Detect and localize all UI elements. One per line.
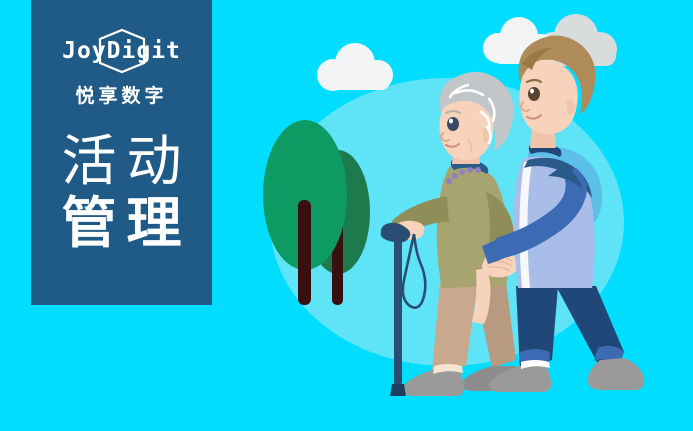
elderly-eye (447, 117, 459, 131)
man-face (519, 60, 577, 134)
logo-wordmark: JoyDigit (56, 28, 188, 74)
poster-canvas: JoyDigit 悦享数字 活动 管理 (0, 0, 693, 431)
elderly-eye-highlight (449, 119, 453, 124)
man-eye (528, 87, 540, 101)
brand-logo: JoyDigit 悦享数字 (56, 28, 188, 108)
logo-mark: JoyDigit (56, 28, 188, 74)
cane-shaft (394, 234, 402, 386)
page-title-line-2: 管理 (51, 192, 191, 254)
page-title-line-1: 活动 (51, 130, 191, 192)
logo-subtitle: 悦享数字 (75, 81, 167, 108)
cane-tip (390, 384, 406, 396)
title-panel: JoyDigit 悦享数字 活动 管理 (31, 0, 212, 305)
man-eye-highlight (530, 89, 534, 94)
page-title: 活动 管理 (51, 130, 191, 254)
